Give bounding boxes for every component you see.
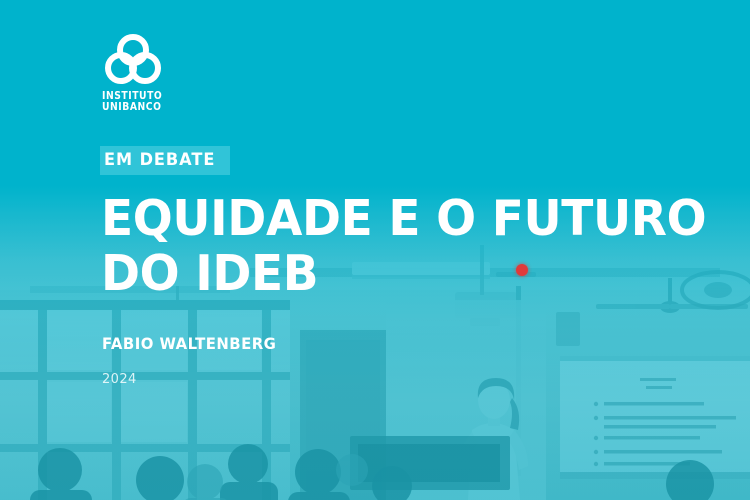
logo-wordmark: INSTITUTO UNIBANCO (102, 91, 183, 113)
title-line-2: DO IDEB (101, 246, 677, 301)
trefoil-logo-icon (102, 33, 164, 85)
slide-content: INSTITUTO UNIBANCO EM DEBATE EQUIDADE E … (0, 0, 750, 500)
year-label: 2024 (102, 372, 137, 387)
badge-label: EM DEBATE (104, 150, 215, 170)
instituto-unibanco-logo: INSTITUTO UNIBANCO (102, 33, 194, 113)
page-title: EQUIDADE E O FUTURO DO IDEB (101, 191, 701, 301)
author-name: FABIO WALTENBERG (102, 334, 276, 353)
title-line-1: EQUIDADE E O FUTURO (101, 191, 677, 246)
em-debate-badge: EM DEBATE (100, 146, 230, 175)
presentation-slide: INSTITUTO UNIBANCO EM DEBATE EQUIDADE E … (0, 0, 750, 500)
